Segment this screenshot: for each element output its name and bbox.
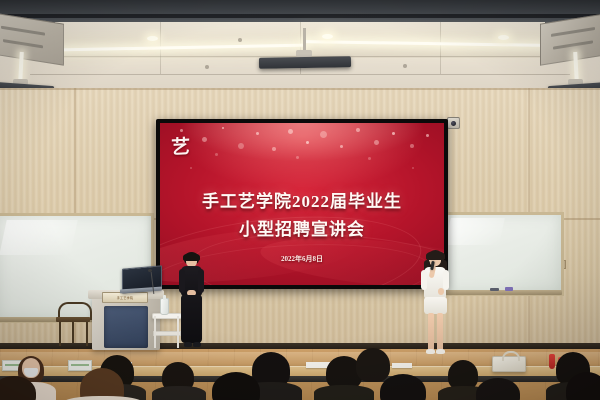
presenter-left-skirt [181,295,202,343]
sparkle [340,145,343,148]
audience-shoulders-back-3 [152,386,206,400]
presenter-right-leg [428,313,434,351]
ac-grill [551,27,595,37]
white-handbag [492,356,526,372]
sparkle [426,134,429,137]
presenter-left-arm [179,269,185,293]
ceiling-seam-2 [30,74,570,75]
name-tent-stripe [71,364,89,366]
sparkle [320,131,327,138]
presenter-right-hand [438,288,444,295]
chair-leg [72,322,74,343]
downlight-2 [322,34,333,39]
wall-seam-top [0,88,600,90]
sparkle [238,143,244,149]
chair-leg [59,322,61,346]
downlight-3 [498,35,509,40]
presenter-right-shoe [436,349,445,354]
whiteboard-right-tray [438,290,562,295]
presenter-left [176,252,206,350]
led-title-line-1: 手工艺学院2022届毕业生 [160,187,444,212]
sparkle [306,141,309,144]
audience-shoulders-back-5 [314,385,374,400]
ac-grill [1,26,45,36]
podium-nameplate: 手工艺学院 [102,292,148,303]
cart-leg [154,316,156,348]
institute-logo: 艺 [171,137,197,158]
sparkle [356,128,360,132]
sparkle [288,129,293,134]
red-bottle [549,354,555,369]
led-top-glow [160,123,444,178]
downlight-1 [147,36,158,41]
audience-head-back-6 [356,348,390,382]
hanging-tube-left [18,52,24,82]
sparkle [272,147,276,151]
presenter-left-hair-top [183,253,200,261]
sparkle [392,132,395,135]
whiteboard-glare [0,220,78,255]
hand-sanitizer-bottle [160,298,169,315]
hanging-rod-center [303,28,306,52]
whiteboard-glare [445,218,505,245]
ac-grill [3,39,43,48]
podium-front-panel [104,306,148,348]
lecture-hall-photo: 艺 手工艺学院2022届毕业生 小型招聘宣讲会 2022年6月8日 手工艺学院 [0,0,600,400]
whiteboard-right [440,212,564,296]
sparkle [368,157,371,160]
marker-purple [505,287,513,291]
ceiling-fitting-3 [403,64,407,68]
sparkle [180,129,183,132]
sparkle [296,156,299,159]
marker-black [490,288,499,291]
ceiling-seam-v3 [440,22,441,74]
podium-microphone-head [148,269,152,272]
led-title-line-2: 小型招聘宣讲会 [160,215,444,240]
presenter-left-shoe [184,342,192,347]
presenter-right-hair-top [426,251,445,260]
presenter-right-arm [443,270,449,290]
presenter-right-shorts [424,297,447,314]
hanging-light-bar-center [259,56,351,69]
presenter-right-leg [437,313,443,351]
sparkle [374,140,379,145]
presenter-left-arm [198,269,204,293]
ceiling-fitting-2 [205,65,209,69]
desk-paper [392,363,412,368]
sparkle [256,132,259,135]
chair-leg [86,322,88,346]
presenter-right [418,250,452,360]
wall-camera-icon [447,117,460,129]
sparkle [215,153,218,156]
name-tent [68,360,92,371]
sparkle [222,127,224,129]
sparkle [410,144,414,148]
sparkle [202,137,207,142]
sparkle [190,167,192,169]
podium-nameplate-text: 手工艺学院 [103,296,147,300]
presenter-left-shoe [193,342,201,347]
ceiling-fitting-1 [238,38,242,42]
sparkle [412,167,414,169]
ac-grill [553,40,593,49]
ceiling [0,0,600,92]
presenter-right-arm [421,270,427,290]
presenter-right-shoe [426,349,435,354]
